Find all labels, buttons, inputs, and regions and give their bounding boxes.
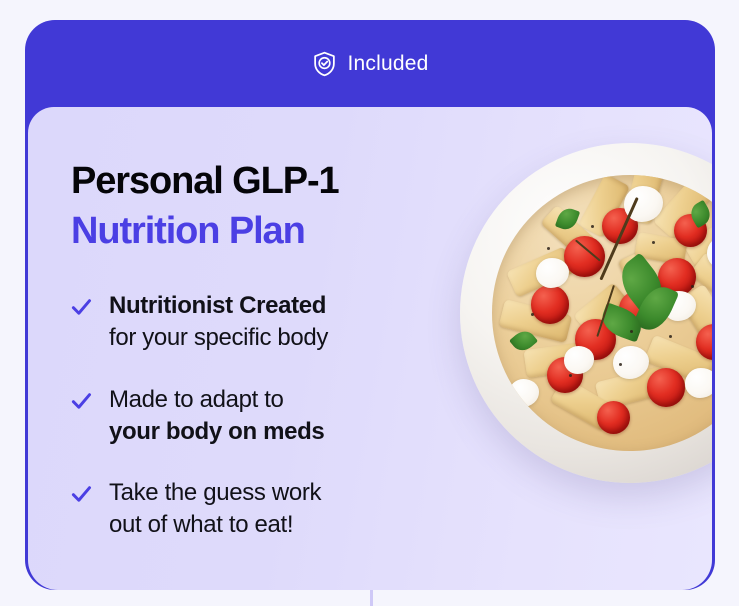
title-line-1: Personal GLP-1 — [71, 160, 339, 202]
page-title: Personal GLP-1 Nutrition Plan — [71, 156, 421, 256]
nutrition-plan-card: Included — [25, 20, 715, 590]
benefits-list: Nutritionist Created for your specific b… — [71, 290, 421, 541]
benefit-line-1: Nutritionist Created — [109, 292, 326, 319]
list-item: Made to adapt to your body on meds — [71, 384, 421, 448]
benefit-text: Made to adapt to your body on meds — [109, 384, 324, 448]
included-label: Included — [348, 53, 429, 74]
benefit-line-1: Made to adapt to — [109, 386, 284, 413]
benefit-text: Nutritionist Created for your specific b… — [109, 290, 328, 354]
check-icon — [71, 484, 92, 505]
card-body-panel: Personal GLP-1 Nutrition Plan Nutritioni… — [28, 107, 712, 590]
list-item: Take the guess work out of what to eat! — [71, 477, 421, 541]
benefit-line-2: for your specific body — [109, 324, 328, 351]
list-item: Nutritionist Created for your specific b… — [71, 290, 421, 354]
check-icon — [71, 391, 92, 412]
connector-line — [370, 590, 373, 606]
content-column: Personal GLP-1 Nutrition Plan Nutritioni… — [71, 156, 421, 570]
benefit-line-2: your body on meds — [109, 418, 324, 445]
benefit-line-1: Take the guess work — [109, 479, 321, 506]
benefit-text: Take the guess work out of what to eat! — [109, 477, 321, 541]
title-line-2: Nutrition Plan — [71, 210, 305, 252]
benefit-line-2: out of what to eat! — [109, 511, 293, 538]
bowl-contents — [492, 175, 712, 450]
card-header: Included — [25, 20, 715, 107]
screenshot-stage: Included — [0, 0, 739, 606]
check-icon — [71, 297, 92, 318]
bowl-image — [460, 143, 712, 483]
shield-check-icon — [312, 51, 337, 77]
